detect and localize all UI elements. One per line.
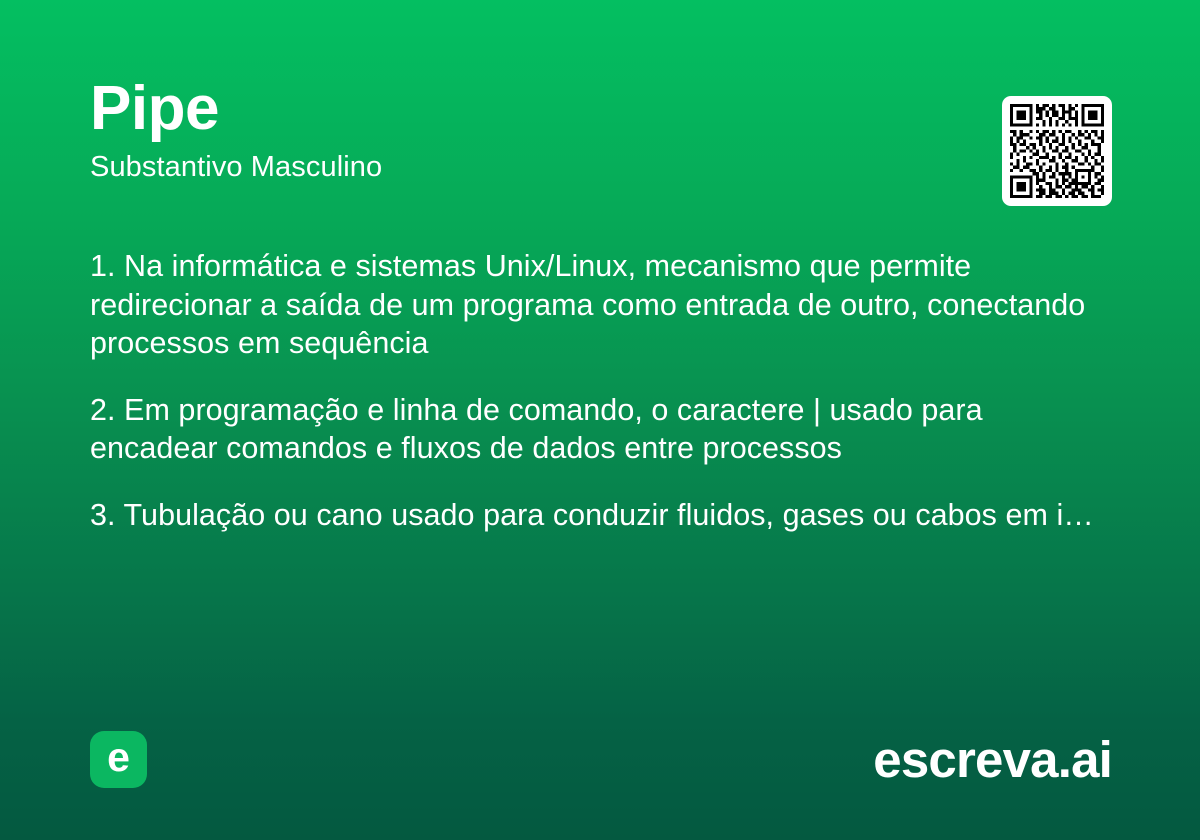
definitions-list: 1. Na informática e sistemas Unix/Linux,… <box>90 247 1112 534</box>
definition-item: 1. Na informática e sistemas Unix/Linux,… <box>90 247 1112 363</box>
qr-code-card[interactable] <box>1002 96 1112 206</box>
definition-item: 3. Tubulação ou cano usado para conduzir… <box>90 496 1112 535</box>
brand-logo-icon: e <box>90 731 147 788</box>
brand-wordmark: escreva.ai <box>873 734 1112 785</box>
card-footer: e escreva.ai <box>90 730 1112 788</box>
card-header: Pipe Substantivo Masculino <box>90 78 1110 184</box>
definition-item: 2. Em programação e linha de comando, o … <box>90 391 1112 468</box>
page-title: Pipe <box>90 78 1110 140</box>
brand-logo-letter: e <box>107 737 130 778</box>
word-class-label: Substantivo Masculino <box>90 152 1110 184</box>
dictionary-card: Pipe Substantivo Masculino <box>0 0 1200 840</box>
qr-code-icon <box>1010 104 1104 198</box>
